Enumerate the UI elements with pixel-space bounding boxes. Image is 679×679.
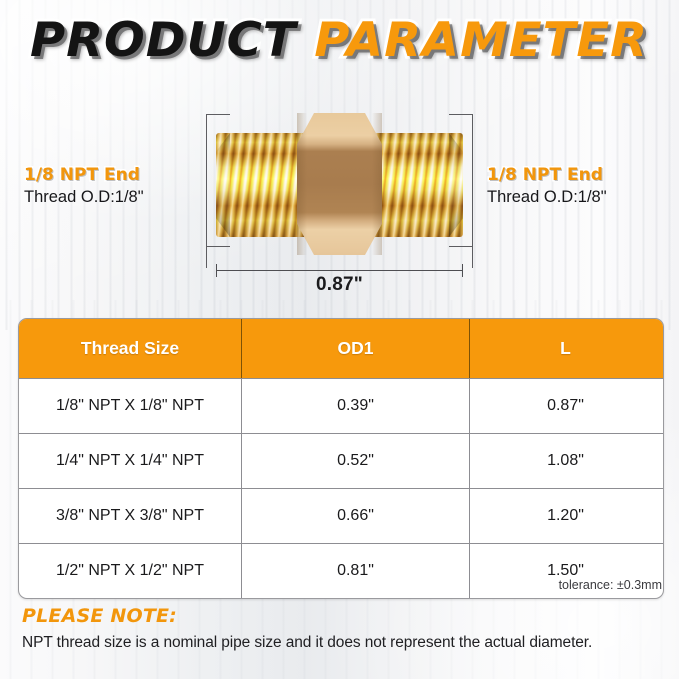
cell-thread-size: 1/8" NPT X 1/8" NPT [19, 379, 241, 433]
cell-thread-size: 3/8" NPT X 3/8" NPT [19, 489, 241, 543]
table-header-thread-size: Thread Size [19, 319, 241, 378]
table-row: 1/8" NPT X 1/8" NPT 0.39" 0.87" [19, 378, 663, 433]
extension-line-left [206, 114, 207, 268]
product-parameter-page: PRODUCT PARAMETER 0.87" [0, 0, 679, 679]
cell-l: 1.20" [469, 489, 661, 543]
please-note-heading: PLEASE NOTE: [22, 605, 177, 627]
brass-hex-nipple-icon [216, 113, 463, 255]
callout-left-heading: 1/8 NPT End [24, 166, 144, 186]
table-header-l: L [469, 319, 661, 378]
page-title-parameter: PARAMETER [315, 13, 649, 68]
hex-body [297, 113, 382, 255]
callout-right-detail: Thread O.D:1/8" [487, 188, 607, 207]
please-note-body: NPT thread size is a nominal pipe size a… [22, 634, 592, 652]
cell-od1: 0.39" [241, 379, 469, 433]
length-dimension-label: 0.87" [216, 274, 463, 296]
callout-left-npt-end: 1/8 NPT End Thread O.D:1/8" [24, 166, 144, 207]
cell-od1: 0.66" [241, 489, 469, 543]
table-row: 1/4" NPT X 1/4" NPT 0.52" 1.08" [19, 433, 663, 488]
cell-l: 1.08" [469, 434, 661, 488]
tolerance-note: tolerance: ±0.3mm [18, 578, 662, 592]
page-title: PRODUCT PARAMETER [0, 17, 679, 64]
cell-thread-size: 1/4" NPT X 1/4" NPT [19, 434, 241, 488]
table-row: 3/8" NPT X 3/8" NPT 0.66" 1.20" [19, 488, 663, 543]
dimension-rule [216, 270, 463, 271]
callout-left-detail: Thread O.D:1/8" [24, 188, 144, 207]
cell-l: 0.87" [469, 379, 661, 433]
callout-right-heading: 1/8 NPT End [487, 166, 607, 186]
table-body: 1/8" NPT X 1/8" NPT 0.39" 0.87" 1/4" NPT… [19, 378, 663, 598]
specification-table: Thread Size OD1 L 1/8" NPT X 1/8" NPT 0.… [18, 318, 664, 599]
extension-line-right [472, 114, 473, 268]
hex-edge-right [372, 113, 382, 255]
table-header-row: Thread Size OD1 L [19, 319, 663, 378]
table-header-od1: OD1 [241, 319, 469, 378]
cell-od1: 0.52" [241, 434, 469, 488]
page-title-product: PRODUCT [30, 13, 297, 68]
callout-right-npt-end: 1/8 NPT End Thread O.D:1/8" [487, 166, 607, 207]
hex-edge-left [297, 113, 307, 255]
